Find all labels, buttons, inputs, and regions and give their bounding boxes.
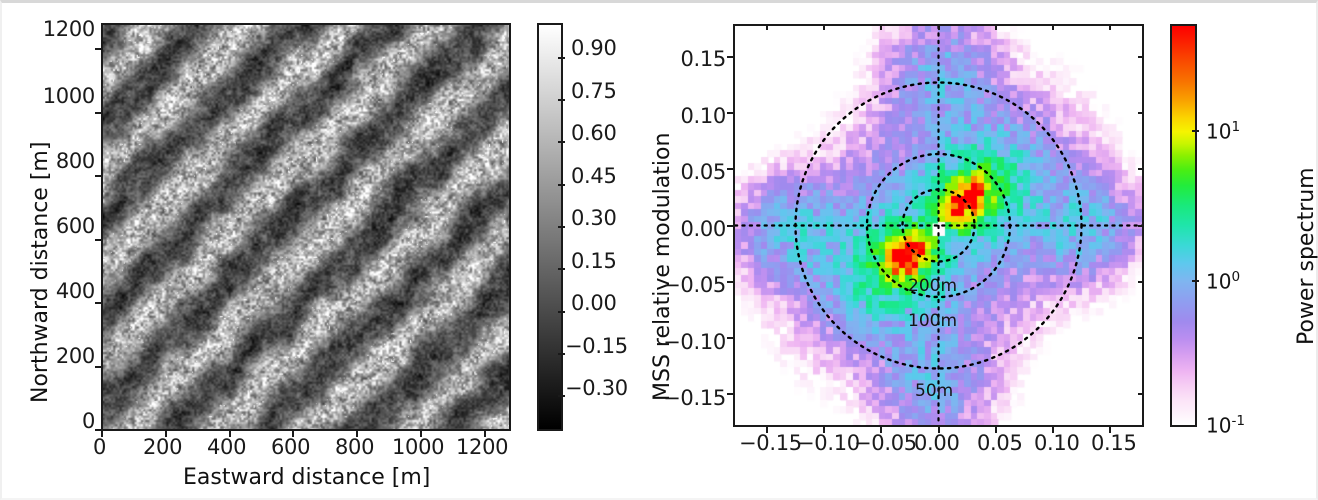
left-xtick-600: 600 [271, 435, 310, 459]
tick-mark [823, 24, 825, 30]
left-xtick-800: 800 [335, 435, 374, 459]
tick-mark [95, 239, 101, 241]
mss-cbtick-0.45: 0.45 [571, 164, 617, 188]
tick-mark [1138, 281, 1144, 283]
power-cbtick-1e0-exp: 0 [1231, 269, 1240, 285]
power-spectrum-colorbar [1170, 24, 1197, 427]
right-xtick-m0.15: −0.15 [739, 431, 802, 455]
right-xtick-0.00: 0.00 [914, 431, 960, 455]
colorbar-tick-mark [558, 353, 565, 355]
colorbar-tick-mark [558, 141, 565, 143]
tick-mark [1138, 225, 1144, 227]
right-xtick-m0.05: −0.05 [854, 431, 917, 455]
right-ytick-0.00: 0.00 [663, 217, 726, 241]
power-spectrum-axes: 200m 100m 50m [733, 24, 1144, 427]
mss-cbtick-0.15: 0.15 [571, 249, 617, 273]
mss-cbtick-0.75: 0.75 [571, 79, 617, 103]
right-ytick-0.05: 0.05 [663, 160, 726, 184]
colorbar-tick-mark [558, 99, 565, 101]
tick-mark [727, 393, 733, 395]
left-xtick-1200: 1200 [456, 435, 508, 459]
left-xtick-0: 0 [93, 435, 106, 459]
sar-image-axes [101, 23, 511, 431]
tick-mark [1138, 393, 1144, 395]
power-colorbar-label: Power spectrum [1294, 167, 1318, 345]
tick-mark [1138, 56, 1144, 58]
power-cbtick-1e1-exp: 1 [1231, 119, 1240, 135]
power-cbtick-1e0: 100 [1206, 269, 1240, 294]
left-xaxis-label: Eastward distance [m] [183, 465, 430, 490]
figure-canvas: 0 200 400 600 800 1000 1200 1200 1000 80… [0, 0, 1318, 500]
power-cbtick-1em1-base: 10 [1206, 414, 1231, 438]
mss-cbtick-0.60: 0.60 [571, 121, 617, 145]
right-ytick-m0.05: −0.05 [657, 273, 726, 297]
right-xtick-0.05: 0.05 [977, 431, 1023, 455]
tick-mark [95, 48, 101, 50]
colorbar-tick-mark [558, 311, 565, 313]
right-xtick-m0.10: −0.10 [797, 431, 860, 455]
right-xtick-0.10: 0.10 [1034, 431, 1080, 455]
power-cbtick-1e1: 101 [1206, 119, 1240, 144]
left-ytick-0: 0 [35, 409, 95, 433]
left-xtick-400: 400 [207, 435, 246, 459]
power-cbtick-1em1: 10-1 [1206, 413, 1245, 438]
colorbar-tick-mark [558, 57, 565, 59]
tick-mark [938, 24, 940, 30]
power-cbtick-1e1-base: 10 [1206, 120, 1231, 144]
tick-mark [766, 24, 768, 30]
left-xtick-200: 200 [143, 435, 182, 459]
tick-mark [727, 168, 733, 170]
power-cbtick-1em1-exp: -1 [1231, 413, 1245, 429]
mss-cbtick-0.90: 0.90 [571, 36, 617, 60]
circle-label-50m: 50m [915, 381, 953, 401]
tick-mark [727, 337, 733, 339]
tick-mark [95, 112, 101, 114]
tick-mark [1138, 168, 1144, 170]
tick-mark [727, 112, 733, 114]
colorbar-tick-mark [1192, 130, 1199, 132]
left-yaxis-label: Northward distance [m] [28, 142, 53, 403]
colorbar-tick-mark [1192, 280, 1199, 282]
spectrum-reference-overlay [735, 26, 1142, 425]
tick-mark [727, 225, 733, 227]
mss-cbtick-0.00: 0.00 [571, 291, 617, 315]
power-cbtick-1e0-base: 10 [1206, 270, 1231, 294]
sar-image-heatmap [103, 25, 509, 429]
tick-mark [95, 366, 101, 368]
tick-mark [95, 429, 101, 431]
tick-mark [1138, 337, 1144, 339]
tick-mark [727, 281, 733, 283]
tick-mark [1109, 24, 1111, 30]
tick-mark [1138, 112, 1144, 114]
mss-cbtick-m0.30: −0.30 [565, 376, 628, 400]
right-xtick-0.15: 0.15 [1091, 431, 1137, 455]
colorbar-tick-mark [558, 184, 565, 186]
mss-cbtick-0.30: 0.30 [571, 206, 617, 230]
circle-label-200m: 200m [908, 276, 957, 296]
left-xtick-1000: 1000 [392, 435, 444, 459]
right-ytick-0.15: 0.15 [663, 47, 726, 71]
left-ytick-1200: 1200 [35, 17, 95, 41]
circle-label-100m: 100m [908, 311, 957, 331]
tick-mark [95, 175, 101, 177]
tick-mark [880, 24, 882, 30]
colorbar-tick-mark [558, 268, 565, 270]
mss-cbtick-m0.15: −0.15 [565, 334, 628, 358]
right-ytick-m0.15: −0.15 [657, 386, 726, 410]
tick-mark [995, 24, 997, 30]
colorbar-tick-mark [558, 395, 565, 397]
colorbar-tick-mark [558, 226, 565, 228]
right-ytick-0.10: 0.10 [663, 104, 726, 128]
right-ytick-m0.10: −0.10 [657, 330, 726, 354]
left-ytick-1000: 1000 [35, 84, 95, 108]
tick-mark [1052, 24, 1054, 30]
tick-mark [727, 56, 733, 58]
tick-mark [95, 302, 101, 304]
